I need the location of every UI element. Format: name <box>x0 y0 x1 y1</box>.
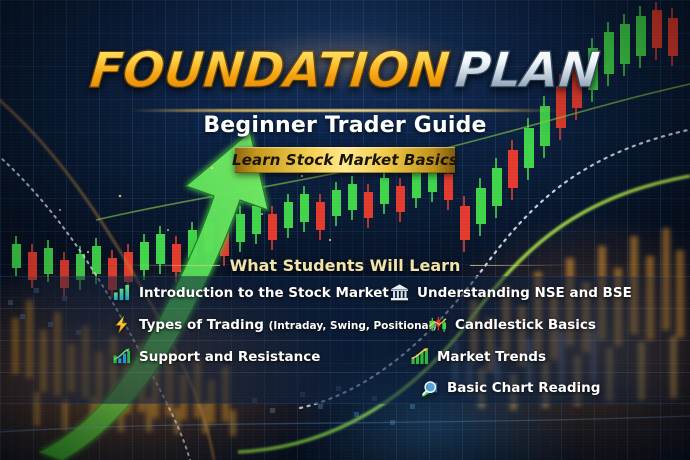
magnifier-chart-icon <box>420 379 439 398</box>
topic-label: Market Trends <box>437 349 546 365</box>
bank-building-icon <box>390 283 409 302</box>
candlestick-icon <box>428 315 447 334</box>
topic-row: Introduction to the Stock Market Underst… <box>0 276 690 308</box>
list-item[interactable]: Support and Resistance <box>112 347 320 366</box>
title-foundation: FOUNDATION <box>88 42 458 99</box>
list-item[interactable]: Introduction to the Stock Market <box>112 283 389 302</box>
list-item[interactable]: Basic Chart Reading <box>420 379 600 398</box>
list-item[interactable]: Types of Trading (Intraday, Swing, Posit… <box>112 315 437 334</box>
list-item[interactable]: Understanding NSE and BSE <box>390 283 632 302</box>
topic-label: Support and Resistance <box>139 349 320 365</box>
heading-rule-left <box>122 265 220 266</box>
section-heading-group: What Students Will Learn <box>0 256 690 275</box>
topic-row: Types of Trading (Intraday, Swing, Posit… <box>0 308 690 340</box>
list-item[interactable]: Market Trends <box>410 347 546 366</box>
subtitle: Beginner Trader Guide <box>0 113 690 138</box>
topic-label-note: (Intraday, Swing, Positional) <box>269 320 437 332</box>
lightning-bolt-icon <box>112 315 131 334</box>
trend-up-icon <box>410 347 429 366</box>
topic-label: Candlestick Basics <box>455 317 596 333</box>
title-plan: PLAN <box>453 42 602 99</box>
bar-chart-icon <box>112 283 131 302</box>
topic-label: Introduction to the Stock Market <box>139 285 389 301</box>
title-underline-accent <box>130 109 560 112</box>
ribbon-label: Learn Stock Market Basics <box>232 151 458 169</box>
section-heading: What Students Will Learn <box>230 256 461 275</box>
topic-row: Support and Resistance Market Trends <box>0 340 690 372</box>
heading-rule-right <box>470 265 568 266</box>
page-title: FOUNDATIONPLAN <box>88 46 602 95</box>
topic-row: Basic Chart Reading <box>0 372 690 404</box>
topics-list: Introduction to the Stock Market Underst… <box>0 276 690 404</box>
title-block: FOUNDATIONPLAN <box>0 46 690 95</box>
support-resistance-icon <box>112 347 131 366</box>
topic-label: Types of Trading (Intraday, Swing, Posit… <box>139 317 437 333</box>
poster-canvas: FOUNDATIONPLAN Beginner Trader Guide Lea… <box>0 0 690 460</box>
gold-ribbon-banner: Learn Stock Market Basics <box>235 147 455 173</box>
topic-label: Basic Chart Reading <box>447 380 600 396</box>
topic-label-main: Types of Trading <box>139 317 264 333</box>
list-item[interactable]: Candlestick Basics <box>428 315 596 334</box>
topic-label: Understanding NSE and BSE <box>417 285 632 301</box>
